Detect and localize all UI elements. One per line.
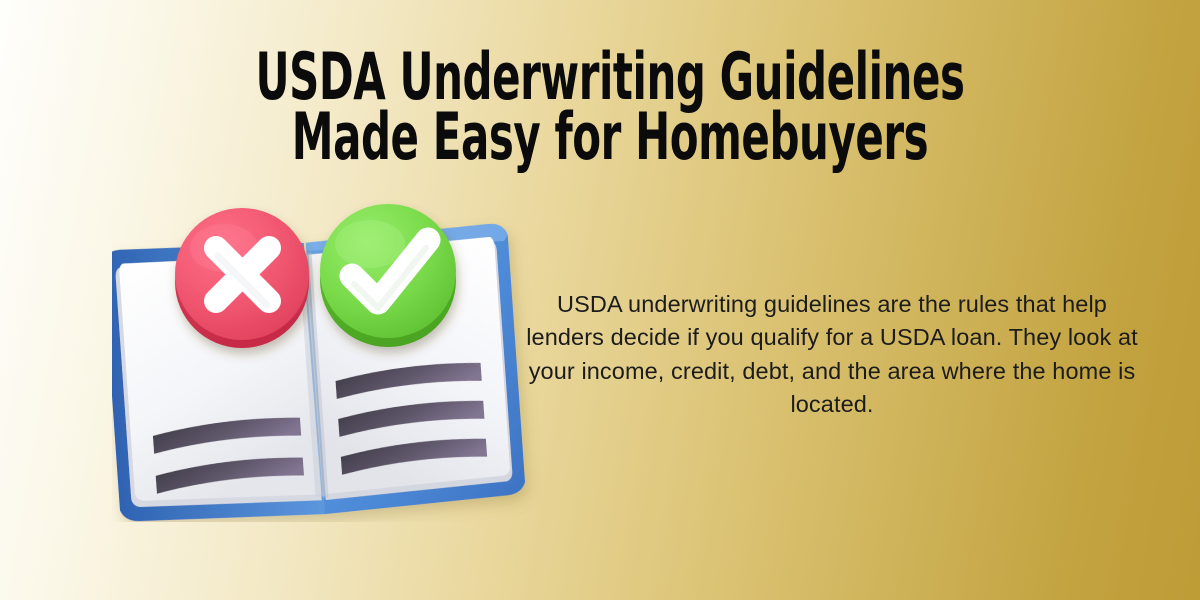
- title-line-1: USDA Underwriting Guidelines: [91, 48, 1129, 108]
- approve-badge: [320, 204, 456, 347]
- footer-bar: GUSTAN CHO ASSOCIATES Commercial & Resid…: [0, 522, 1200, 600]
- open-book-illustration: [112, 192, 542, 522]
- title-line-2: Made Easy for Homebuyers: [91, 108, 1129, 168]
- page-title: USDA Underwriting Guidelines Made Easy f…: [0, 48, 1200, 158]
- body-paragraph: USDA underwriting guidelines are the rul…: [520, 288, 1144, 421]
- reject-badge: [175, 208, 309, 348]
- promotional-banner: USDA Underwriting Guidelines Made Easy f…: [0, 0, 1200, 600]
